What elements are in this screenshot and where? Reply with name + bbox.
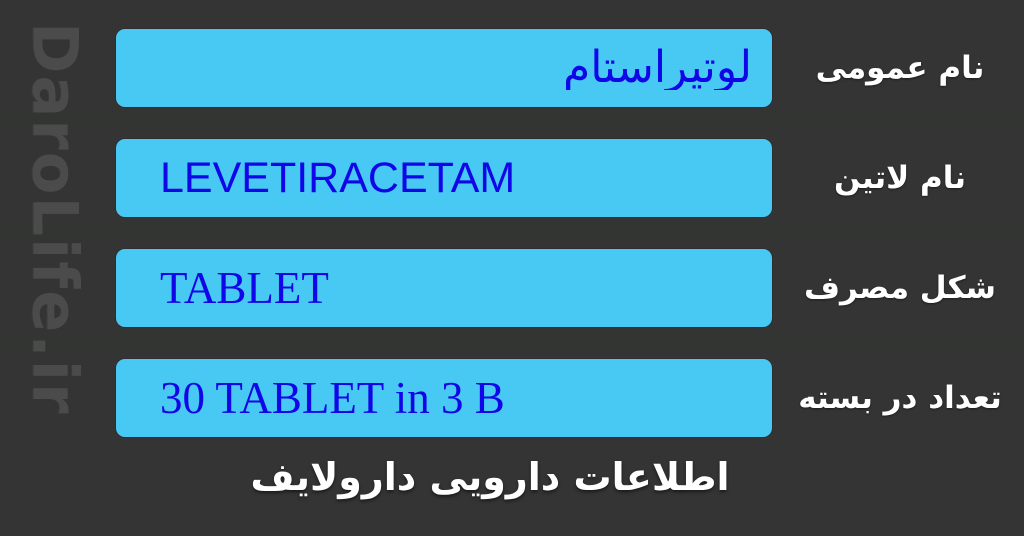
value-dosage-form: TABLET [116,266,772,311]
row-gap-tint-2 [0,222,1024,236]
field-row-latin-name: LEVETIRACETAM نام لاتین [0,139,1024,217]
field-row-generic-name: لوتیراستام نام عمومی [0,29,1024,107]
value-bar-package-count[interactable]: 30 TABLET in 3 B [116,359,772,437]
label-package-count: تعداد در بسته [786,381,1014,415]
row-gap-tint-3 [0,332,1024,346]
value-bar-dosage-form[interactable]: TABLET [116,249,772,327]
drug-info-card: DaroLife.ir لوتیراستام نام عمومی LEVETIR… [0,0,1024,536]
field-row-dosage-form: TABLET شکل مصرف [0,249,1024,327]
label-generic-name: نام عمومی [786,51,1014,85]
footer-caption: اطلاعات دارویی دارولایف [0,455,980,499]
value-bar-generic-name[interactable]: لوتیراستام [116,29,772,107]
value-latin-name: LEVETIRACETAM [116,157,772,200]
value-generic-name: لوتیراستام [116,46,772,90]
row-gap-tint-1 [0,112,1024,126]
label-latin-name: نام لاتین [786,161,1014,195]
value-bar-latin-name[interactable]: LEVETIRACETAM [116,139,772,217]
value-package-count: 30 TABLET in 3 B [116,376,772,421]
field-row-package-count: 30 TABLET in 3 B تعداد در بسته [0,359,1024,437]
label-dosage-form: شکل مصرف [786,271,1014,305]
